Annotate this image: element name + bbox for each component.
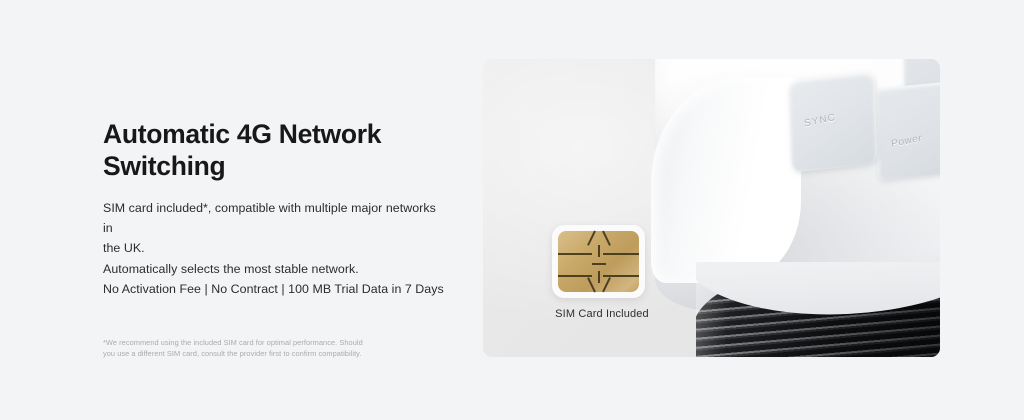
product-photo-panel: NIS o Antenna Power ⏻ SYNC (483, 59, 940, 357)
feature-text-column: Automatic 4G Network Switching SIM card … (103, 118, 448, 299)
footnote-disclaimer: *We recommend using the included SIM car… (103, 337, 393, 359)
description-line: the UK. (103, 238, 448, 258)
description-line: No Activation Fee | No Contract | 100 MB… (103, 279, 448, 299)
antenna-label: Antenna (915, 59, 940, 61)
device-ribbed-base (696, 262, 940, 357)
sim-chip-caption: SIM Card Included (517, 308, 687, 320)
sim-chip-card (552, 225, 645, 298)
sim-chip-contact-traces (558, 231, 639, 292)
sim-chip-gold-contact (558, 231, 639, 292)
sync-label: SYNC (803, 112, 836, 130)
description-line: Automatically selects the most stable ne… (103, 259, 448, 279)
footnote-line: you use a different SIM card, consult th… (103, 348, 393, 359)
sync-button: SYNC (789, 71, 878, 172)
page-title: Automatic 4G Network Switching (103, 118, 403, 182)
power-label: Power (891, 133, 923, 150)
feature-description: SIM card included*, compatible with mult… (103, 198, 448, 299)
description-line: SIM card included*, compatible with mult… (103, 198, 448, 238)
footnote-line: *We recommend using the included SIM car… (103, 337, 393, 348)
sim-chip-callout (552, 225, 645, 298)
power-button: Power ⏻ (877, 79, 940, 181)
